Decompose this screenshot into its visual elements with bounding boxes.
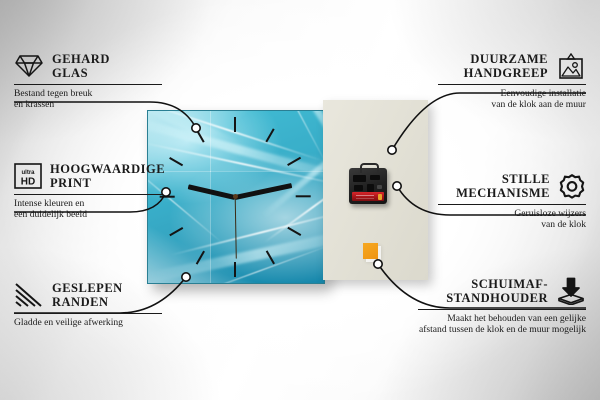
clock-tick <box>296 195 311 197</box>
feature-schuimafstandhouder: SCHUIMAF- STANDHOUDER Maakt het behouden… <box>418 277 586 336</box>
feature-divider <box>438 204 586 205</box>
feature-title: HOOGWAARDIGE PRINT <box>50 162 165 190</box>
foam-spacer-block <box>363 243 378 259</box>
clock-tick <box>234 117 236 132</box>
clock-hub <box>233 194 238 199</box>
feature-title: SCHUIMAF- STANDHOUDER <box>446 277 548 305</box>
clock-tick <box>287 227 301 237</box>
battery-positive-terminal <box>378 194 382 200</box>
clock-tick <box>234 262 236 277</box>
svg-text:HD: HD <box>21 177 35 188</box>
clock-mechanism-module <box>349 168 387 204</box>
clock-second-hand <box>234 197 236 259</box>
feature-geslepen-randen: GESLEPEN RANDEN Gladde en veilige afwerk… <box>14 281 162 328</box>
feature-stille-mechanisme: STILLE MECHANISME Geruisloze wijzers van… <box>438 172 586 231</box>
feature-hoogwaardige-print: ultra HD HOOGWAARDIGE PRINT Intense kleu… <box>14 162 162 221</box>
feature-title: GEHARD GLAS <box>52 52 110 80</box>
press-down-icon <box>556 277 586 305</box>
feature-subtitle: Geruisloze wijzers van de klok <box>438 208 586 231</box>
infographic-canvas: GEHARD GLAS Bestand tegen breuk en krass… <box>0 0 600 400</box>
feature-divider <box>438 84 586 85</box>
feature-divider <box>418 309 586 310</box>
feature-gehard-glas: GEHARD GLAS Bestand tegen breuk en krass… <box>14 52 162 111</box>
product-clock-face <box>147 110 325 284</box>
diamond-icon <box>14 53 44 79</box>
feature-duurzame-handgreep: DUURZAME HANDGREEP Eenvoudige installati… <box>438 52 586 111</box>
gear-icon <box>558 173 586 200</box>
feature-subtitle: Maakt het behouden van een gelijke afsta… <box>418 313 586 336</box>
feature-divider <box>14 84 162 85</box>
feature-subtitle: Eenvoudige installatie van de klok aan d… <box>438 88 586 111</box>
clock-battery <box>352 192 384 201</box>
mechanism-hanger-icon <box>360 163 379 173</box>
feature-title: STILLE MECHANISME <box>456 172 550 200</box>
framed-picture-icon <box>556 53 586 80</box>
feature-title: DUURZAME HANDGREEP <box>464 52 548 80</box>
feature-subtitle: Gladde en veilige afwerking <box>14 317 162 328</box>
feature-subtitle: Bestand tegen breuk en krassen <box>14 88 162 111</box>
feature-divider <box>14 313 162 314</box>
ultra-hd-icon: ultra HD <box>14 163 42 189</box>
feature-subtitle: Intense kleuren en een duidelijk beeld <box>14 198 162 221</box>
svg-text:ultra: ultra <box>21 170 35 176</box>
feature-divider <box>14 194 162 195</box>
bevelled-edge-icon <box>14 282 44 308</box>
feature-title: GESLEPEN RANDEN <box>52 281 123 309</box>
